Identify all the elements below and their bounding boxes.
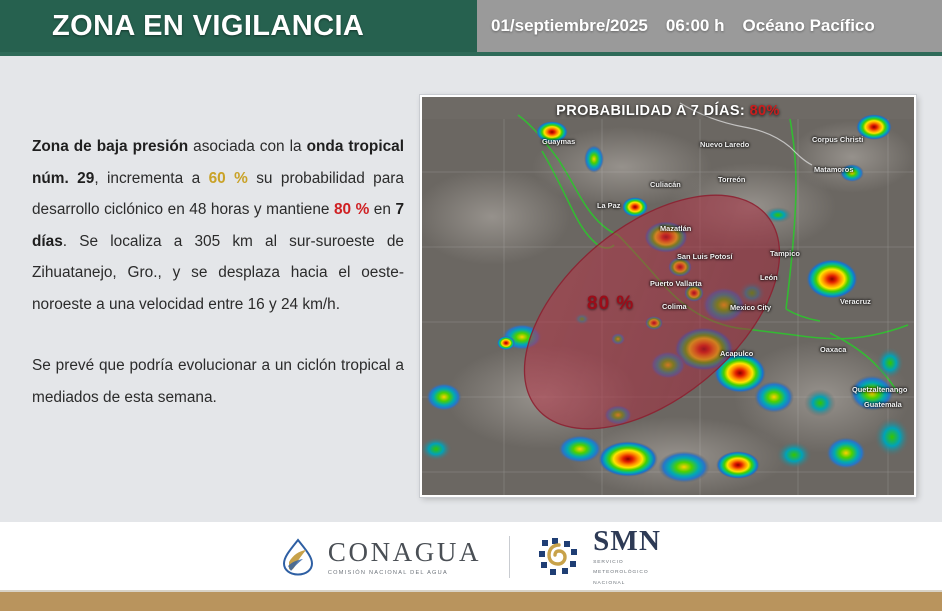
conagua-logo: CONAGUA COMISIÓN NACIONAL DEL AGUA	[281, 538, 481, 576]
bulletin-paragraph-2: Se prevé que podría evolucionar a un cic…	[32, 350, 404, 413]
city-label: Culiacán	[650, 180, 681, 189]
city-label: San Luis Potosí	[677, 252, 732, 261]
bulletin-region: Océano Pacífico	[742, 16, 874, 36]
conagua-subtitle: COMISIÓN NACIONAL DEL AGUA	[328, 570, 481, 576]
page-header: ZONA EN VIGILANCIA 01/septiembre/2025 06…	[0, 0, 942, 52]
city-label: Guatemala	[864, 400, 902, 409]
probability-7d: 80 %	[334, 201, 369, 218]
satellite-imagery	[422, 97, 914, 495]
city-label: Mexico City	[730, 303, 771, 312]
bulletin-text-panel: Zona de baja presión asociada con la ond…	[32, 131, 404, 414]
header-meta-block: 01/septiembre/2025 06:00 h Océano Pacífi…	[477, 0, 942, 52]
city-label: La Paz	[597, 201, 620, 210]
city-label: Tampico	[770, 249, 800, 258]
probability-area-label: 80 %	[587, 293, 634, 315]
city-label: Oaxaca	[820, 345, 846, 354]
probability-48h: 60 %	[209, 170, 248, 187]
page-footer: CONAGUA COMISIÓN NACIONAL DEL AGUA	[0, 522, 942, 592]
smn-subtitle-line1: SERVICIO	[593, 559, 661, 566]
city-label: Colima	[662, 302, 687, 311]
footer-divider	[509, 536, 510, 578]
city-label: Puerto Vallarta	[650, 279, 702, 288]
conagua-wordmark: CONAGUA COMISIÓN NACIONAL DEL AGUA	[328, 539, 481, 576]
satellite-map[interactable]: PROBABILIDAD A 7 DÍAS: 80% 80 % Guaymas …	[420, 95, 916, 497]
city-label: Quetzaltenango	[852, 385, 907, 394]
p1-seg4: , incrementa a	[94, 170, 208, 187]
conagua-name: CONAGUA	[328, 539, 481, 566]
city-label: Matamoros	[814, 165, 853, 174]
main-content: Zona de baja presión asociada con la ond…	[0, 56, 942, 522]
city-label: Mazatlán	[660, 224, 691, 233]
water-drop-icon	[281, 538, 315, 576]
smn-subtitle-line3: NACIONAL	[593, 580, 661, 587]
smn-name: SMN	[593, 527, 661, 556]
header-title-block: ZONA EN VIGILANCIA	[0, 0, 477, 52]
smn-subtitle-line2: METEOROLÓGICO	[593, 569, 661, 576]
bulletin-date: 01/septiembre/2025	[491, 16, 648, 36]
page-title: ZONA EN VIGILANCIA	[52, 10, 364, 43]
bulletin-paragraph-1: Zona de baja presión asociada con la ond…	[32, 131, 404, 320]
city-label: Corpus Christi	[812, 135, 863, 144]
city-label: Guaymas	[542, 137, 575, 146]
city-label: Veracruz	[840, 297, 871, 306]
smn-wordmark: SMN SERVICIO METEOROLÓGICO NACIONAL	[593, 527, 661, 587]
p1-seg2: asociada con la	[188, 138, 306, 155]
smn-logo: SMN SERVICIO METEOROLÓGICO NACIONAL	[538, 527, 661, 587]
city-label: Nuevo Laredo	[700, 140, 749, 149]
city-label: León	[760, 273, 778, 282]
p1-seg8: en	[369, 201, 395, 218]
city-label: Acapulco	[720, 349, 753, 358]
low-pressure-term: Zona de baja presión	[32, 138, 188, 155]
bulletin-time: 06:00 h	[666, 16, 725, 36]
city-label: Torreón	[718, 175, 745, 184]
footer-accent-bar	[0, 592, 942, 611]
smn-spiral-icon	[538, 536, 580, 578]
p1-seg10: . Se localiza a 305 km al sur-suroeste d…	[32, 233, 404, 313]
